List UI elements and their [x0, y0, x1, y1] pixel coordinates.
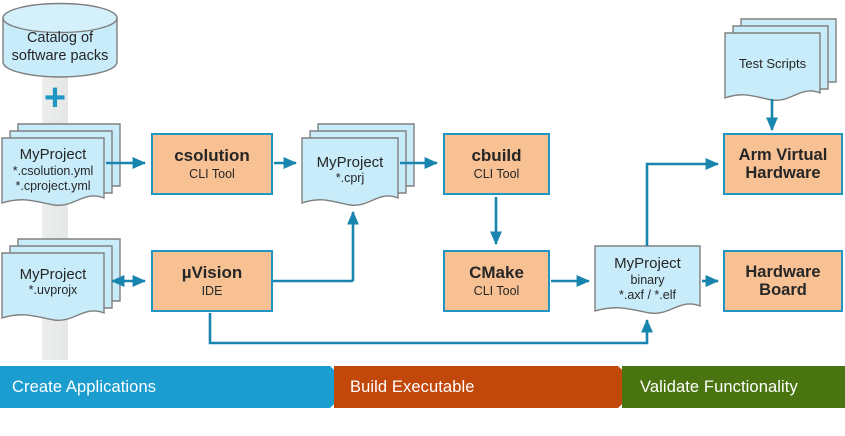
diagram-canvas: Catalog of software packs + MyProject *.…: [0, 0, 845, 436]
stage-label-1: Create Applications: [12, 378, 156, 397]
cbuild-title: cbuild: [471, 146, 521, 165]
uvision-box[interactable]: µVision IDE: [151, 250, 273, 312]
cmake-subtitle: CLI Tool: [474, 284, 520, 300]
project-yml-document-shape: [2, 124, 120, 205]
avh-title-line1: Arm Virtual: [739, 146, 828, 164]
test-scripts-document-shape: [725, 19, 836, 100]
plus-icon: +: [39, 80, 71, 116]
project-uvprojx-document-shape: [2, 239, 120, 320]
uvision-subtitle: IDE: [202, 284, 223, 300]
hardware-board-title-line2: Board: [759, 281, 807, 299]
cmake-box[interactable]: CMake CLI Tool: [443, 250, 550, 312]
csolution-title: csolution: [174, 146, 250, 165]
catalog-line2: software packs: [12, 48, 109, 66]
stage-label-2-wrap: Build Executable: [350, 366, 475, 408]
cbuild-box[interactable]: cbuild CLI Tool: [443, 133, 550, 195]
arrow-binary-to-avh: [647, 164, 718, 246]
avh-title-line2: Hardware: [745, 164, 820, 182]
arrow-uvision-to-binary: [210, 313, 647, 343]
stage-banner: Create Applications Build Executable Val…: [0, 366, 845, 408]
cbuild-subtitle: CLI Tool: [474, 167, 520, 183]
binary-document-shape: [595, 246, 700, 313]
stage-label-1-wrap: Create Applications: [12, 366, 156, 408]
stage-label-3: Validate Functionality: [640, 378, 798, 397]
hardware-board-title-line1: Hardware: [745, 263, 820, 281]
csolution-box[interactable]: csolution CLI Tool: [151, 133, 273, 195]
cmake-title: CMake: [469, 263, 524, 282]
project-cprj-document-shape: [302, 124, 414, 205]
catalog-label: Catalog of software packs: [2, 22, 118, 74]
csolution-subtitle: CLI Tool: [189, 167, 235, 183]
stage-label-3-wrap: Validate Functionality: [640, 366, 798, 408]
hardware-board-box[interactable]: Hardware Board: [723, 250, 843, 312]
arm-virtual-hardware-box[interactable]: Arm Virtual Hardware: [723, 133, 843, 195]
uvision-title: µVision: [182, 263, 243, 282]
stage-label-2: Build Executable: [350, 378, 475, 397]
catalog-line1: Catalog of: [27, 30, 93, 48]
